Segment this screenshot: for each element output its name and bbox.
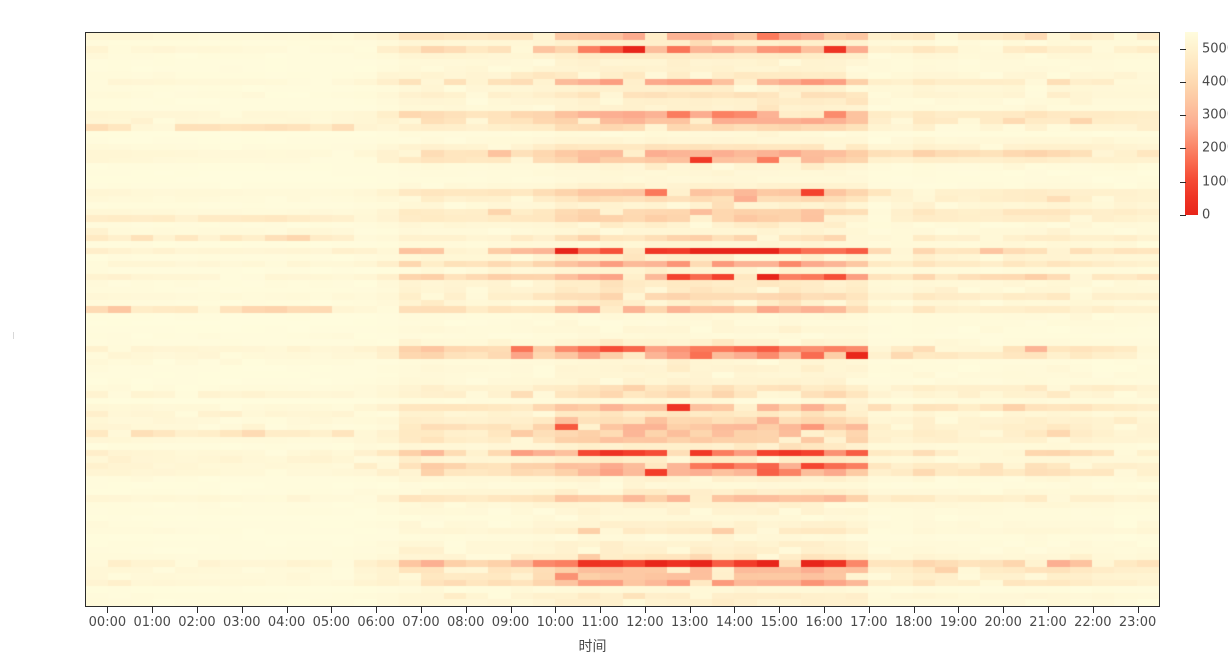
stray-margin-mark [13,332,14,339]
x-axis-tick-label: 23:00 [1119,615,1156,630]
x-axis-tick [779,607,780,613]
x-axis-tick-label: 20:00 [984,615,1021,630]
x-axis-tick [869,607,870,613]
colorbar-tick [1180,148,1186,149]
colorbar: 500040003000200010000 [1185,32,1198,215]
x-axis-tick-label: 15:00 [761,615,798,630]
x-axis-tick-label: 10:00 [537,615,574,630]
x-axis-tick [197,607,198,613]
x-axis-tick [107,607,108,613]
x-axis-tick-label: 00:00 [89,615,126,630]
heatmap-cells [86,33,1159,606]
x-axis-tick [645,607,646,613]
x-axis-tick-label: 13:00 [671,615,708,630]
x-axis-tick-label: 11:00 [581,615,618,630]
colorbar-gradient [1185,32,1198,215]
x-axis-tick [555,607,556,613]
x-axis-tick [376,607,377,613]
heatmap-figure: 00:0001:0002:0003:0004:0005:0006:0007:00… [0,0,1228,666]
colorbar-tick [1180,82,1186,83]
x-axis-tick-label: 21:00 [1029,615,1066,630]
colorbar-tick-label: 3000 [1202,108,1228,123]
x-axis-tick [1003,607,1004,613]
colorbar-tick [1180,215,1186,216]
x-axis-tick [914,607,915,613]
x-axis-tick [1048,607,1049,613]
colorbar-tick [1180,115,1186,116]
colorbar-tick-label: 2000 [1202,141,1228,156]
x-axis-tick-label: 09:00 [492,615,529,630]
x-axis-tick-label: 02:00 [178,615,215,630]
x-axis-tick-label: 19:00 [940,615,977,630]
colorbar-tick-label: 0 [1202,208,1210,223]
heatmap-plot-area [85,32,1160,607]
x-axis-tick-label: 17:00 [850,615,887,630]
x-axis-tick [734,607,735,613]
x-axis-tick-label: 01:00 [133,615,170,630]
colorbar-tick-label: 4000 [1202,74,1228,89]
x-axis-tick [600,607,601,613]
x-axis-tick [242,607,243,613]
x-axis-tick-label: 07:00 [402,615,439,630]
colorbar-tick [1180,49,1186,50]
x-axis: 00:0001:0002:0003:0004:0005:0006:0007:00… [85,607,1160,637]
x-axis-tick [511,607,512,613]
x-axis-tick [331,607,332,613]
x-axis-tick-label: 18:00 [895,615,932,630]
x-axis-tick [421,607,422,613]
x-axis-title: 时间 [0,636,1228,656]
x-axis-tick-label: 16:00 [805,615,842,630]
x-axis-title-label: 时间 [579,639,607,655]
x-axis-tick-label: 14:00 [716,615,753,630]
x-axis-tick [1138,607,1139,613]
x-axis-tick-label: 05:00 [313,615,350,630]
x-axis-tick [287,607,288,613]
colorbar-tick-label: 5000 [1202,41,1228,56]
x-axis-tick [824,607,825,613]
x-axis-tick-label: 04:00 [268,615,305,630]
x-axis-tick-label: 08:00 [447,615,484,630]
x-axis-tick-label: 12:00 [626,615,663,630]
x-axis-tick-label: 03:00 [223,615,260,630]
x-axis-tick-label: 22:00 [1074,615,1111,630]
colorbar-tick-label: 1000 [1202,174,1228,189]
x-axis-tick [690,607,691,613]
x-axis-tick [1093,607,1094,613]
x-axis-tick [152,607,153,613]
colorbar-tick [1180,182,1186,183]
x-axis-tick [466,607,467,613]
x-axis-tick [958,607,959,613]
x-axis-tick-label: 06:00 [357,615,394,630]
